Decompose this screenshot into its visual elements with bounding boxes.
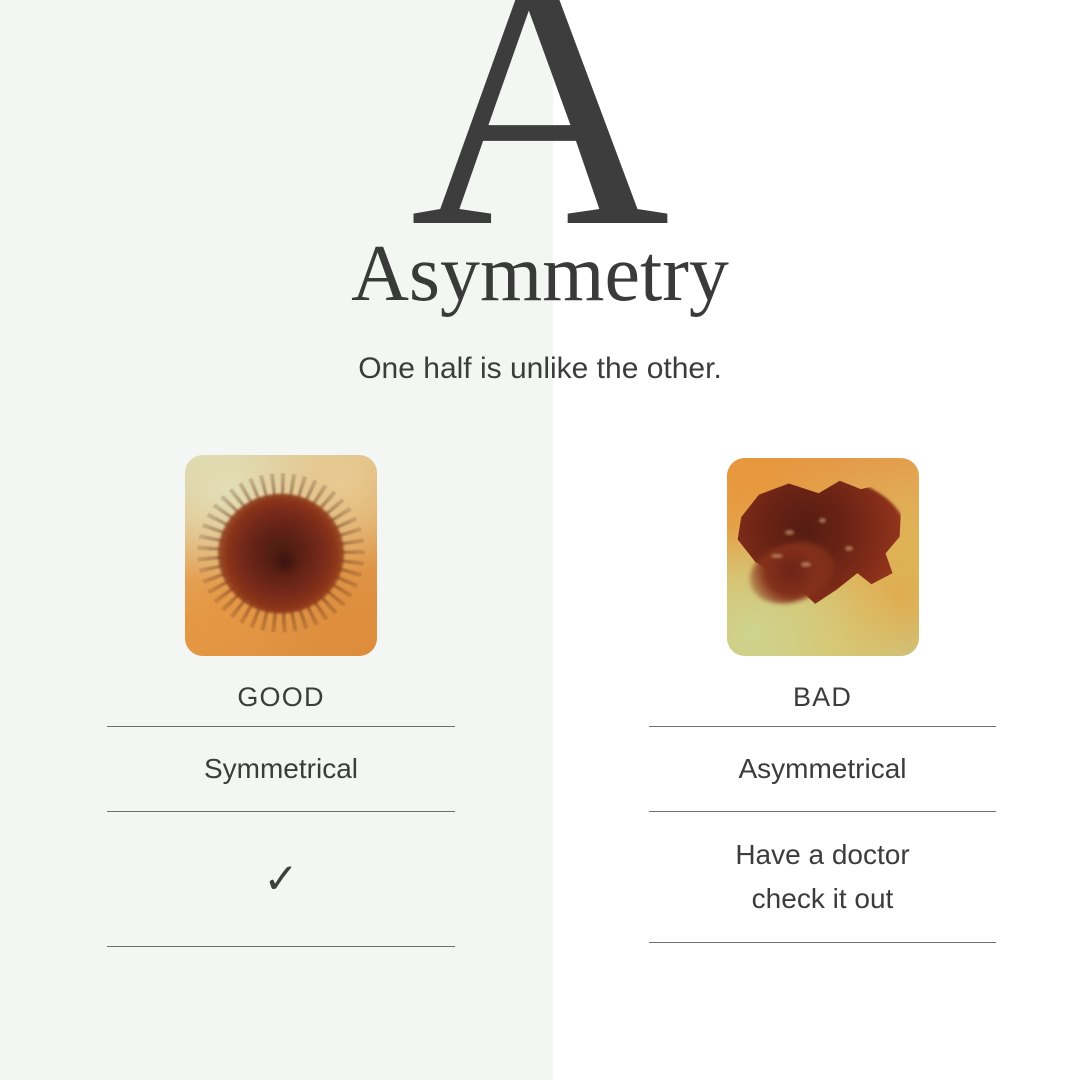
divider-good-3 [107, 946, 455, 947]
lesion-speck [819, 518, 826, 523]
check-icon: ✓ [107, 812, 455, 946]
verdict-label-bad: BAD [649, 668, 996, 726]
lesion-speck [771, 554, 783, 558]
thumbnail-wrap-good [107, 455, 455, 668]
lesion-core [272, 551, 298, 573]
lesion-speck [845, 546, 853, 551]
comparison-column-bad: BAD Asymmetrical Have a doctor check it … [649, 455, 996, 943]
lesion-speck [801, 562, 811, 567]
dermoscopy-image-asymmetrical[interactable] [727, 458, 919, 656]
advice-line-1: Have a doctor [735, 833, 909, 877]
page-title: Asymmetry [0, 234, 1080, 316]
dermoscopy-image-symmetrical[interactable] [185, 455, 377, 656]
attribute-value-bad: Asymmetrical [649, 727, 996, 811]
divider-bad-3 [649, 942, 996, 943]
abcde-asymmetry-card: A Asymmetry One half is unlike the other… [0, 0, 1080, 1080]
attribute-value-good: Symmetrical [107, 727, 455, 811]
verdict-label-good: GOOD [107, 668, 455, 726]
thumbnail-wrap-bad [649, 455, 996, 668]
comparison-column-good: GOOD Symmetrical ✓ [107, 455, 455, 947]
advice-line-2: check it out [735, 877, 909, 921]
lesion-speck [785, 530, 794, 535]
page-subtitle: One half is unlike the other. [0, 351, 1080, 387]
advice-text: Have a doctor check it out [649, 812, 996, 942]
